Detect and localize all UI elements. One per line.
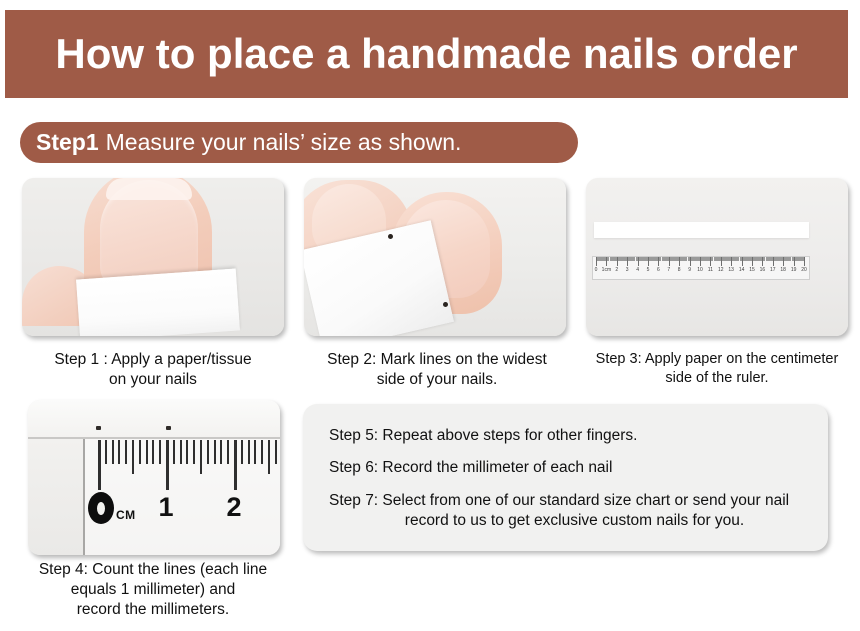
ruler-number: 16: [760, 267, 766, 273]
cm-unit-label: CM: [116, 508, 136, 522]
ruler-closeup-tick: [268, 440, 270, 474]
caption-step2-line2: side of your nails.: [377, 371, 498, 388]
ruler-zero-marker: CM: [88, 492, 136, 524]
caption-step1-line1: Step 1 : Apply a paper/tissue: [54, 351, 251, 368]
paper-strip-on-nail: [76, 268, 240, 336]
step1-pill: Step1 Measure your nails’ size as shown.: [20, 122, 578, 163]
caption-step4: Step 4: Count the lines (each line equal…: [8, 560, 298, 619]
ruler-number: 10: [697, 267, 703, 273]
ruler-closeup-tick: [214, 440, 216, 464]
photo-card-step3: 01cm234567891011121314151617181920: [586, 178, 848, 336]
step5-text: Step 5: Repeat above steps for other fin…: [329, 427, 637, 444]
ruler-number-labels: 01cm234567891011121314151617181920: [593, 267, 809, 279]
ruler-closeup-tick: [248, 440, 250, 464]
ruler-closeup-tick: [118, 440, 120, 464]
step5-line: Step 5: Repeat above steps for other fin…: [329, 426, 802, 446]
ruler-closeup-tick: [125, 440, 127, 464]
caption-step3: Step 3: Apply paper on the centimeter si…: [576, 350, 858, 387]
step7-text: Step 7: Select from one of our standard …: [329, 492, 789, 509]
ruler-closeup-tick: [180, 440, 182, 464]
photo-card-step2: [304, 178, 566, 336]
step6-line: Step 6: Record the millimeter of each na…: [329, 458, 802, 478]
ruler-closeup-tick: [275, 440, 277, 464]
ruler-closeup-tick: [173, 440, 175, 464]
ruler-closeup-tick: [139, 440, 141, 464]
ruler-number: 12: [718, 267, 724, 273]
ruler-closeup-tick: [227, 440, 229, 464]
measure-mark-dot-right: [166, 426, 171, 430]
ruler-closeup-tick: [234, 440, 237, 490]
title-banner: How to place a handmade nails order: [5, 10, 848, 98]
ruler-number: 14: [739, 267, 745, 273]
zero-badge: [88, 492, 114, 524]
caption-step3-line2: side of the ruler.: [665, 370, 768, 386]
mark-dot-top: [388, 234, 393, 239]
zero-badge-hole: [97, 502, 105, 515]
transparent-ruler: 01cm234567891011121314151617181920: [592, 256, 810, 280]
ruler-tick: [804, 257, 805, 266]
ruler-number: 18: [780, 267, 786, 273]
ruler-number: 9: [688, 267, 691, 273]
step7-line: Step 7: Select from one of our standard …: [329, 491, 802, 532]
caption-step1-line2: on your nails: [109, 371, 197, 388]
caption-step4-line2: equals 1 millimeter) and: [71, 581, 236, 598]
caption-step3-line1: Step 3: Apply paper on the centimeter: [596, 351, 839, 367]
ruler-number: 8: [678, 267, 681, 273]
ruler-number: 2: [615, 267, 618, 273]
ruler-number: 20: [801, 267, 807, 273]
ruler-closeup-tick: [159, 440, 161, 464]
ruler-closeup-number: 2: [226, 492, 241, 523]
mark-dot-bottom: [443, 302, 448, 307]
caption-step4-line3: record the millimeters.: [77, 601, 229, 618]
ruler-closeup-tick: [241, 440, 243, 464]
ruler-closeup-tick: [254, 440, 256, 464]
caption-step2-line1: Step 2: Mark lines on the widest: [327, 351, 547, 368]
ruler-closeup-tick: [220, 440, 222, 464]
ruler-closeup-tick: [152, 440, 154, 464]
ruler-closeup-tick: [193, 440, 195, 464]
photo-card-step4: CM 123: [28, 400, 280, 555]
ruler-closeup-tick: [207, 440, 209, 464]
ruler-number: 15: [749, 267, 755, 273]
step7-text-continued: record to us to get exclusive custom nai…: [329, 511, 802, 531]
fingernail-tip-highlight: [106, 178, 192, 200]
ruler-number: 0: [595, 267, 598, 273]
page-title: How to place a handmade nails order: [55, 33, 797, 75]
step1-label: Step1: [36, 129, 99, 156]
nail-order-instruction-infographic: { "theme": { "brand_brown": "#9f5b47", "…: [0, 0, 860, 631]
ruler-number: 7: [667, 267, 670, 273]
ruler-closeup-tick: [261, 440, 263, 464]
ruler-closeup-number: 1: [158, 492, 173, 523]
ruler-number: 4: [636, 267, 639, 273]
ruler-number: 11: [708, 267, 713, 273]
ruler-closeup-tick: [105, 440, 107, 464]
ruler-closeup-tick: [186, 440, 188, 464]
ruler-tick-marks: [593, 257, 809, 267]
ruler-number: 1cm: [602, 267, 611, 273]
ruler-number: 6: [657, 267, 660, 273]
ruler-closeup-tick: [166, 440, 169, 490]
ruler-closeup-tick: [112, 440, 114, 464]
caption-step4-line1: Step 4: Count the lines (each line: [39, 561, 267, 578]
ruler-number: 5: [647, 267, 650, 273]
ruler-number: 17: [770, 267, 776, 273]
ruler-number: 3: [626, 267, 629, 273]
ruler-closeup-tick: [132, 440, 134, 474]
ruler-number: 13: [728, 267, 734, 273]
step6-text: Step 6: Record the millimeter of each na…: [329, 459, 612, 476]
caption-step1: Step 1 : Apply a paper/tissue on your na…: [12, 350, 294, 390]
ruler-number: 19: [791, 267, 797, 273]
ruler-closeup-tick: [146, 440, 148, 464]
caption-step2: Step 2: Mark lines on the widest side of…: [296, 350, 578, 390]
paper-strip-on-ruler: [594, 222, 809, 238]
paper-strip-band: [28, 400, 280, 438]
ruler-closeup-tick: [98, 440, 101, 490]
steps-5-7-box: Step 5: Repeat above steps for other fin…: [303, 404, 828, 551]
step1-description: Measure your nails’ size as shown.: [106, 129, 462, 156]
measure-mark-dot-left: [96, 426, 101, 430]
ruler-closeup-tick: [200, 440, 202, 474]
photo-card-step1: [22, 178, 284, 336]
